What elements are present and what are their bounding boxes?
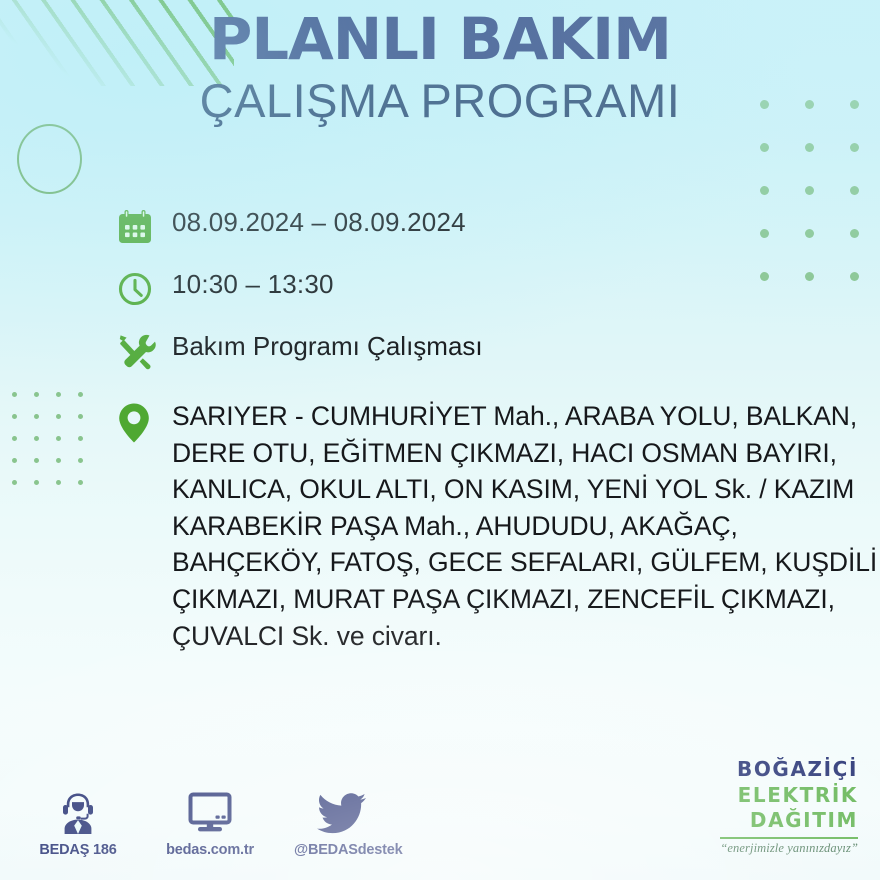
contact-label: bedas.com.tr <box>162 842 258 858</box>
contact-label: BEDAŞ 186 <box>30 842 126 858</box>
date-range-text: 08.09.2024 – 08.09.2024 <box>172 206 466 237</box>
logo-line-elektrik: ELEKTRİK <box>720 783 858 809</box>
outage-details: 08.09.2024 – 08.09.2024 10:30 – 13:30 <box>116 206 868 654</box>
monitor-icon <box>162 783 258 835</box>
address-line: ÇIKMAZI, MURAT PAŞA ÇIKMAZI, ZENCEFİL ÇI… <box>172 581 877 618</box>
logo-line-bogazici: BOĞAZİÇİ <box>720 757 858 783</box>
clock-icon <box>116 268 172 308</box>
address-line: DERE OTU, EĞİTMEN ÇIKMAZI, HACI OSMAN BA… <box>172 435 877 472</box>
page-subtitle: ÇALIŞMA PROGRAMI <box>0 72 880 129</box>
contact-item-phone[interactable]: BEDAŞ 186 <box>30 783 126 858</box>
poster-header: PLANLI BAKIM ÇALIŞMA PROGRAMI <box>0 10 880 129</box>
detail-row-work-type: Bakım Programı Çalışması <box>116 330 868 398</box>
work-type-text: Bakım Programı Çalışması <box>172 330 483 361</box>
detail-row-date: 08.09.2024 – 08.09.2024 <box>116 206 868 268</box>
contact-item-twitter[interactable]: @BEDASdestek <box>294 783 390 858</box>
page-title: PLANLI BAKIM <box>0 10 880 70</box>
poster-footer: BEDAŞ 186 bedas.com.tr <box>0 750 880 880</box>
logo-tagline: “enerjimizle yanınızdayız” <box>720 841 858 856</box>
logo-divider <box>720 837 858 839</box>
tools-icon <box>116 330 172 372</box>
dot-grid-decoration-left <box>12 392 100 502</box>
contact-channels: BEDAŞ 186 bedas.com.tr <box>30 783 390 858</box>
logo-line-dagitim: DAĞITIM <box>720 808 858 834</box>
bedas-logo: BOĞAZİÇİ ELEKTRİK DAĞITIM “enerjimizle y… <box>720 757 858 856</box>
address-line: KANLICA, OKUL ALTI, ON KASIM, YENİ YOL S… <box>172 471 877 508</box>
time-range-text: 10:30 – 13:30 <box>172 268 334 299</box>
address-line: SARIYER - CUMHURİYET Mah., ARABA YOLU, B… <box>172 398 877 435</box>
circle-outline-decoration <box>17 124 82 194</box>
detail-row-location: SARIYER - CUMHURİYET Mah., ARABA YOLU, B… <box>116 398 868 654</box>
calendar-icon <box>116 206 172 246</box>
address-text: SARIYER - CUMHURİYET Mah., ARABA YOLU, B… <box>172 398 877 654</box>
contact-item-website[interactable]: bedas.com.tr <box>162 783 258 858</box>
address-line: ÇUVALCI Sk. ve civarı. <box>172 618 877 655</box>
detail-row-time: 10:30 – 13:30 <box>116 268 868 330</box>
address-line: BAHÇEKÖY, FATOŞ, GECE SEFALARI, GÜLFEM, … <box>172 544 877 581</box>
contact-label: @BEDASdestek <box>294 842 390 858</box>
poster-canvas: PLANLI BAKIM ÇALIŞMA PROGRAMI <box>0 0 880 880</box>
call-center-agent-icon <box>30 783 126 835</box>
map-pin-icon <box>116 398 172 444</box>
address-line: KARABEKİR PAŞA Mah., AHUDUDU, AKAĞAÇ, <box>172 508 877 545</box>
twitter-bird-icon <box>294 783 390 835</box>
